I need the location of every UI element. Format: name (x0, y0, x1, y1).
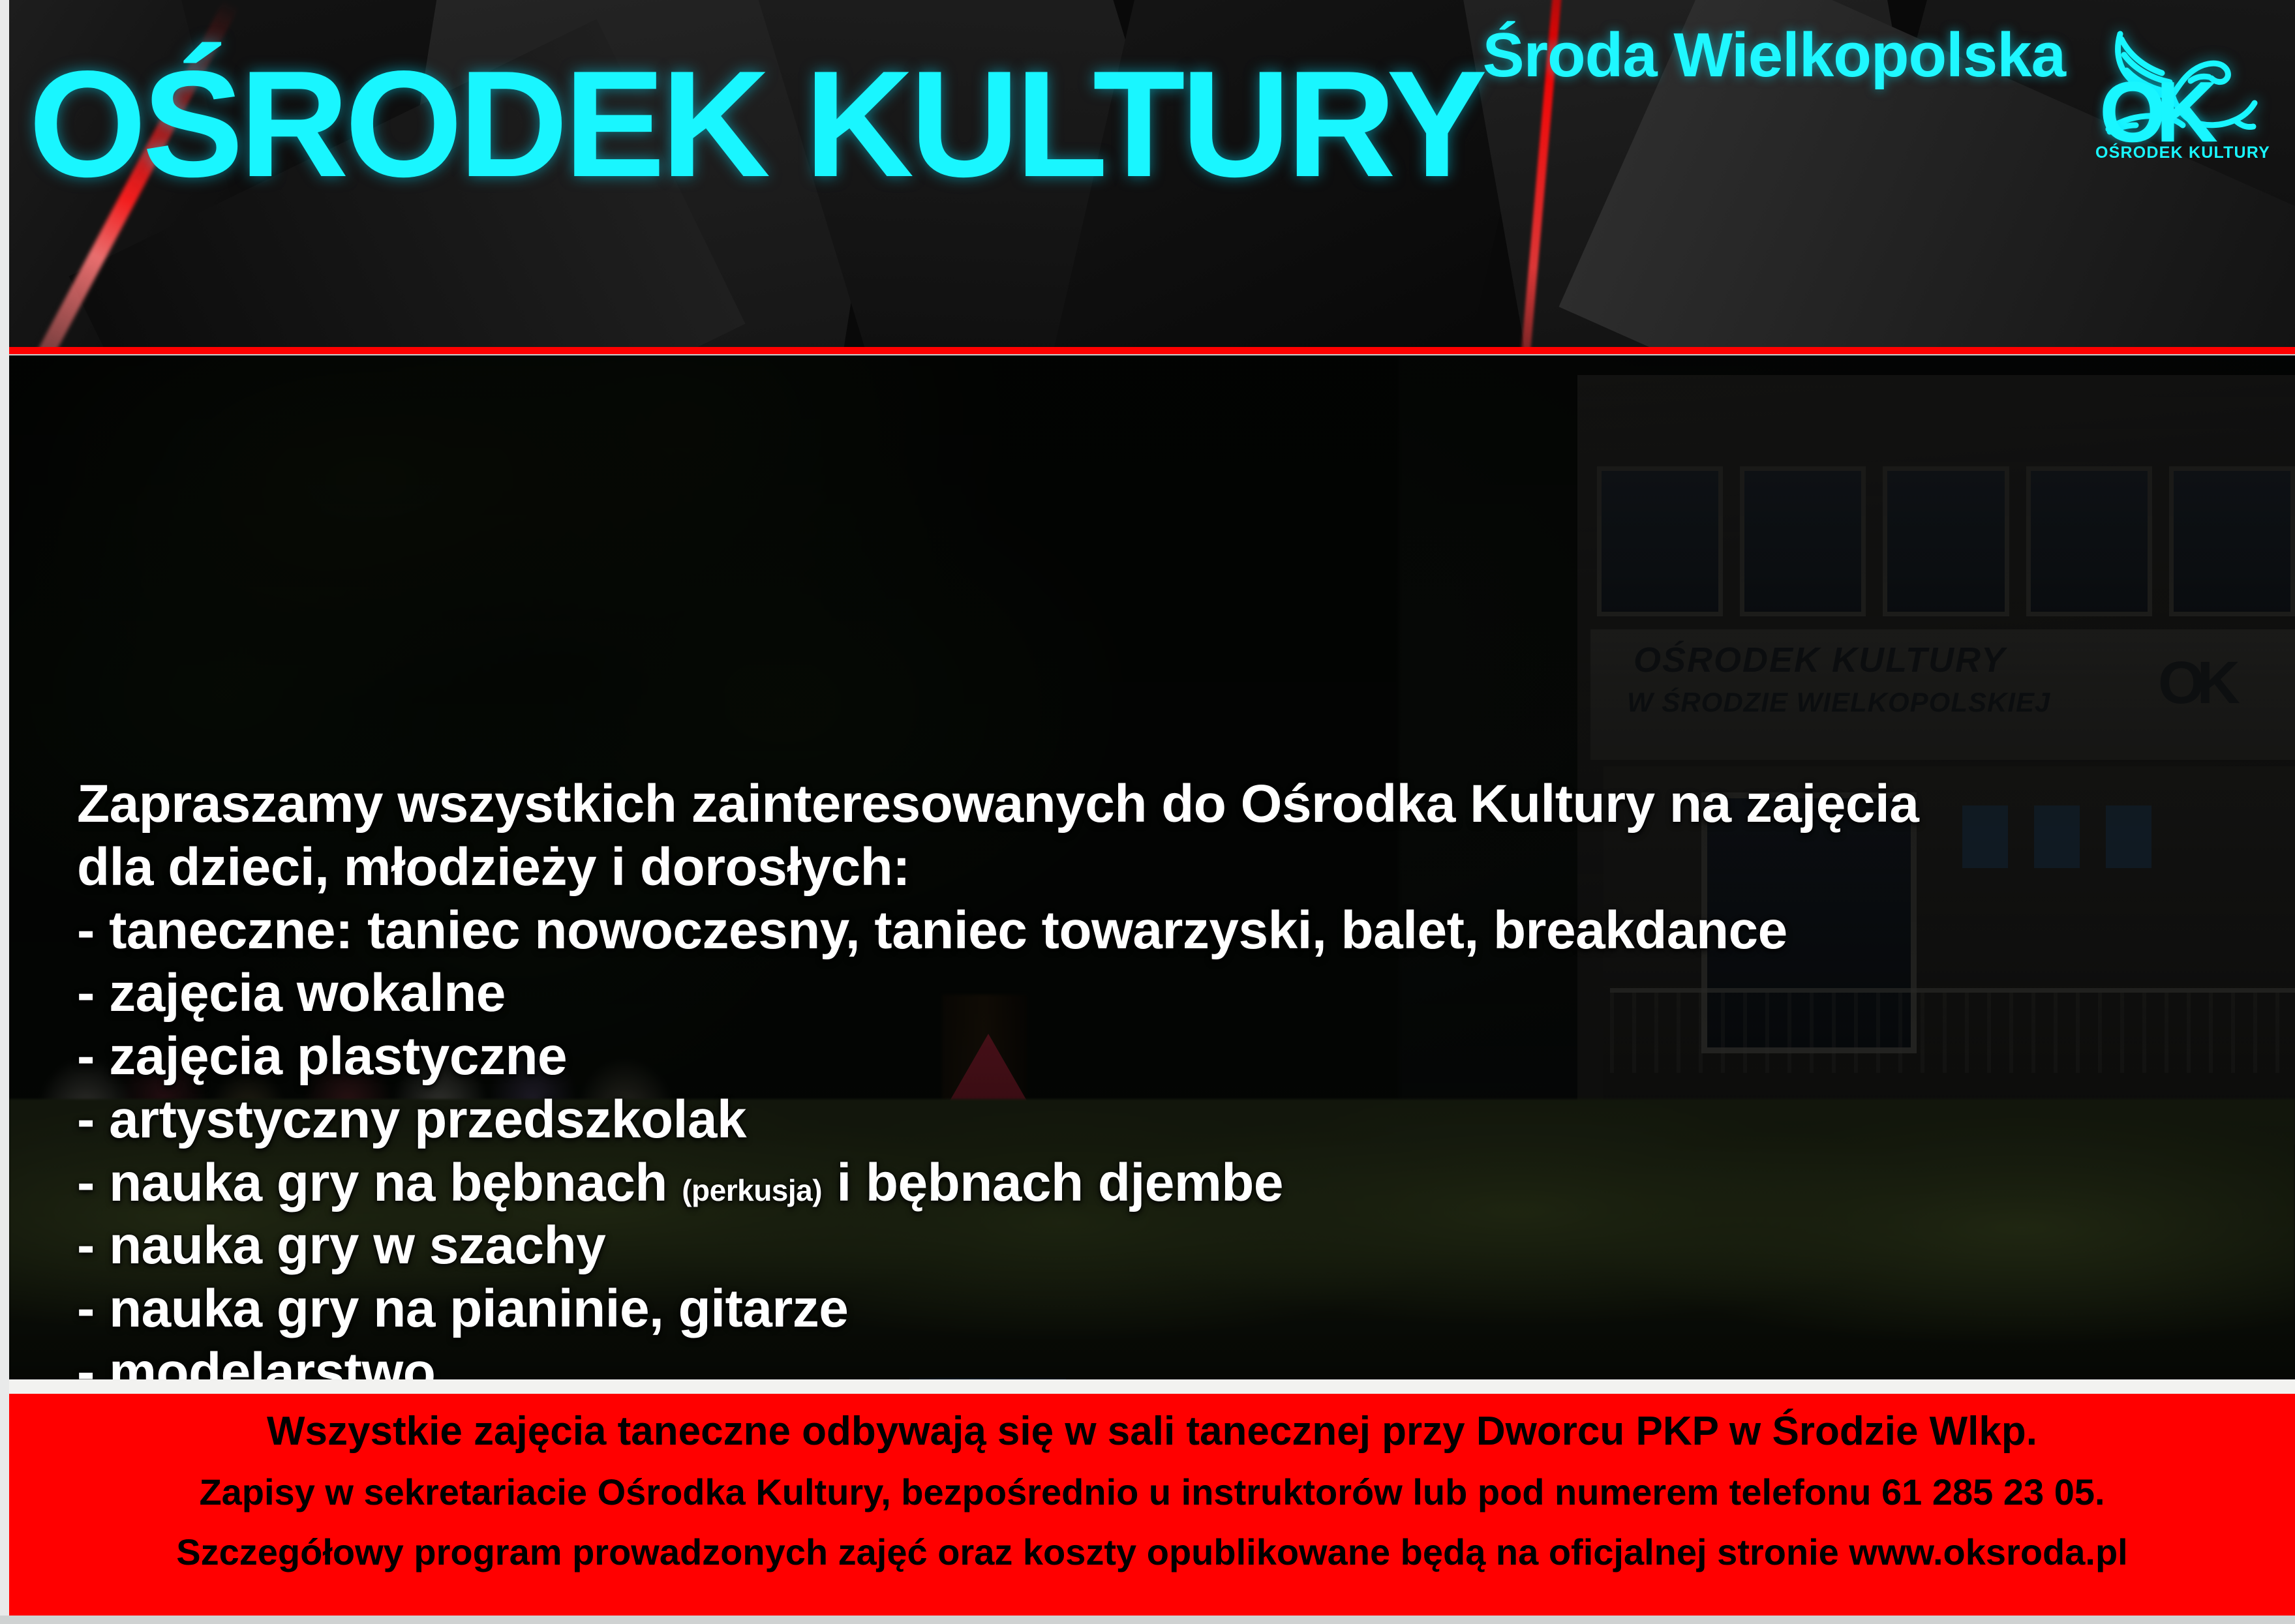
list-item: - zajęcia plastyczne (77, 1025, 2099, 1089)
list-item-drums: - nauka gry na bębnach (perkusja) i bębn… (77, 1152, 2099, 1215)
city-kicker: Środa Wielkopolska (1483, 20, 2065, 91)
drums-parenthetical: (perkusja) (682, 1173, 822, 1207)
list-item: - nauka gry w szachy (77, 1214, 2099, 1278)
footer-band: Wszystkie zajęcia taneczne odbywają się … (9, 1394, 2295, 1616)
list-item: - nauka gry na pianinie, gitarze (77, 1278, 2099, 1341)
red-divider (9, 347, 2295, 354)
photo-panel: OŚRODEK KULTURY W ŚRODZIE WIELKOPOLSKIEJ… (9, 355, 2295, 1379)
drums-main-after: i bębnach djembe (836, 1153, 1283, 1212)
drums-main-before: - nauka gry na bębnach (77, 1153, 667, 1212)
left-edge-strip (0, 0, 9, 1624)
poster: Środa Wielkopolska OŚRODEK KULTURY (0, 0, 2295, 1624)
footer-line-2: Zapisy w sekretariacie Ośrodka Kultury, … (9, 1471, 2295, 1513)
page-title: OŚRODEK KULTURY (29, 55, 1483, 194)
list-item: - modelarstwo (77, 1341, 2099, 1379)
list-item: - taneczne: taniec nowoczesny, taniec to… (77, 899, 2099, 963)
intro-line-2: dla dzieci, młodzieży i dorosłych: (77, 836, 2099, 899)
list-item: - artystyczny przedszkolak (77, 1089, 2099, 1152)
white-gap (9, 1379, 2295, 1394)
brand-logo: OK OŚRODEK KULTURY (2081, 14, 2277, 177)
logo-caption: OŚRODEK KULTURY (2091, 143, 2274, 162)
program-copy: Zapraszamy wszystkich zainteresowanych d… (77, 773, 2099, 1379)
intro-line-1: Zapraszamy wszystkich zainteresowanych d… (77, 773, 2099, 836)
bottom-edge-strip (0, 1616, 2295, 1624)
footer-line-3: Szczegółowy program prowadzonych zajęć o… (9, 1531, 2295, 1573)
header-band: Środa Wielkopolska OŚRODEK KULTURY (9, 0, 2295, 347)
list-item: - zajęcia wokalne (77, 962, 2099, 1025)
footer-line-1: Wszystkie zajęcia taneczne odbywają się … (9, 1408, 2295, 1454)
